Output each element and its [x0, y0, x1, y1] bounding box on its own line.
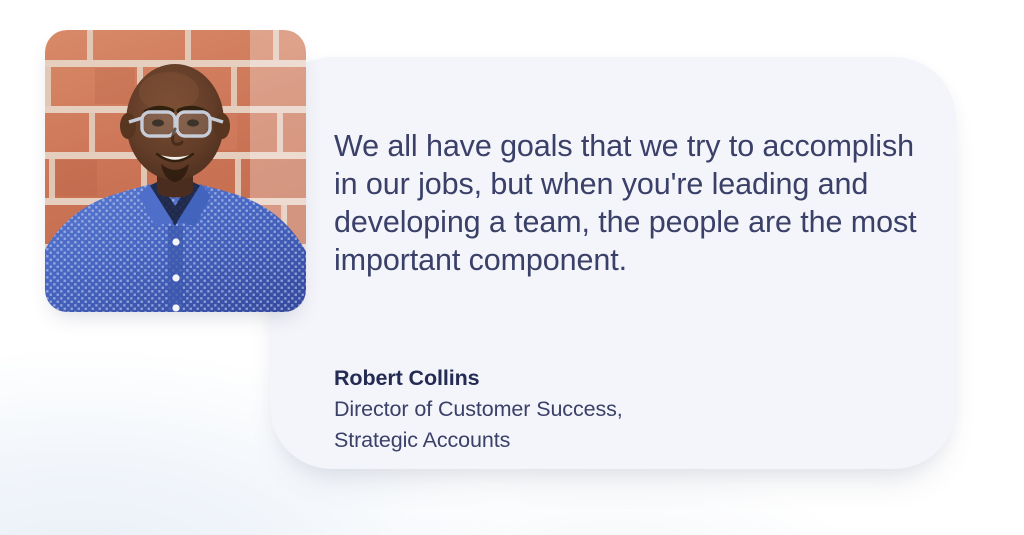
attribution-block: Robert Collins Director of Customer Succ… [334, 363, 894, 456]
quote-line: in our jobs, but when you're leading and [334, 165, 930, 203]
quote-text: We all have goals that we try to accompl… [334, 127, 930, 279]
author-portrait [45, 30, 306, 312]
quote-line: developing a team, the people are the mo… [334, 203, 930, 241]
author-role-line: Strategic Accounts [334, 425, 894, 456]
testimonial-card: We all have goals that we try to accompl… [270, 57, 956, 469]
portrait-illustration [45, 30, 306, 312]
testimonial-slide: We all have goals that we try to accompl… [0, 0, 1024, 535]
author-name: Robert Collins [334, 363, 894, 394]
author-role-line: Director of Customer Success, [334, 394, 894, 425]
quote-line: important component. [334, 241, 930, 279]
quote-line: We all have goals that we try to accompl… [334, 127, 930, 165]
